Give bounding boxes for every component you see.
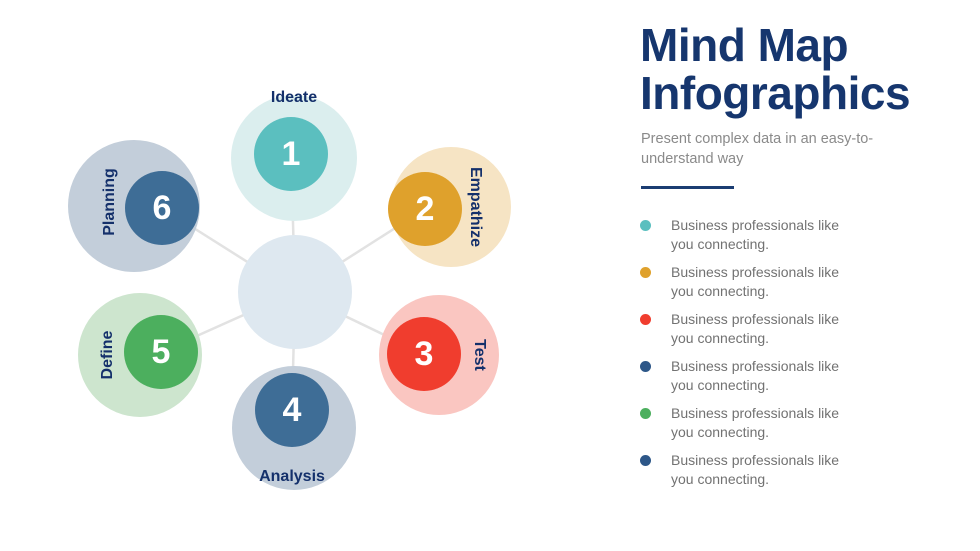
legend-item[interactable]: Business professionals like you connecti… (640, 451, 970, 498)
mind-map-diagram: 1Ideate2Empathize3Test4Analysis5Define6P… (0, 0, 600, 551)
node-label: Ideate (271, 90, 317, 106)
legend-item-label: Business professionals like you connecti… (671, 451, 846, 490)
legend-bullet-icon (640, 408, 651, 419)
legend-bullet-icon (640, 220, 651, 231)
legend-item[interactable]: Business professionals like you connecti… (640, 357, 970, 404)
legend-bullet-icon (640, 267, 651, 278)
node-inner-circle[interactable]: 2 (388, 172, 462, 246)
legend-bullet-icon (640, 455, 651, 466)
node-inner-circle[interactable]: 6 (125, 171, 199, 245)
legend-item-label: Business professionals like you connecti… (671, 216, 846, 255)
legend-item-label: Business professionals like you connecti… (671, 404, 846, 443)
node-inner-circle[interactable]: 4 (255, 373, 329, 447)
legend-bullet-icon (640, 361, 651, 372)
legend-item[interactable]: Business professionals like you connecti… (640, 216, 970, 263)
node-number: 3 (415, 337, 434, 371)
node-label: Test (471, 339, 487, 371)
node-inner-circle[interactable]: 5 (124, 315, 198, 389)
node-label: Planning (102, 168, 118, 236)
legend-item-label: Business professionals like you connecti… (671, 357, 846, 396)
node-number: 6 (153, 191, 172, 225)
node-number: 1 (282, 137, 301, 171)
legend-item-label: Business professionals like you connecti… (671, 263, 846, 302)
center-hub (238, 235, 352, 349)
node-label: Analysis (259, 469, 325, 485)
title-divider (641, 186, 734, 189)
node-number: 2 (416, 192, 435, 226)
page-subtitle: Present complex data in an easy-to-under… (641, 130, 891, 169)
node-inner-circle[interactable]: 3 (387, 317, 461, 391)
node-inner-circle[interactable]: 1 (254, 117, 328, 191)
node-number: 4 (283, 393, 302, 427)
legend-item[interactable]: Business professionals like you connecti… (640, 310, 970, 357)
node-label: Empathize (467, 167, 483, 247)
legend-item-label: Business professionals like you connecti… (671, 310, 846, 349)
node-number: 5 (152, 335, 171, 369)
page-title: Mind Map Infographics (640, 22, 970, 118)
node-label: Define (100, 331, 116, 380)
legend-bullet-icon (640, 314, 651, 325)
legend-item[interactable]: Business professionals like you connecti… (640, 404, 970, 451)
legend-list: Business professionals like you connecti… (640, 216, 970, 498)
title-line-2: Infographics (640, 67, 910, 119)
content-panel: Mind Map Infographics Present complex da… (640, 0, 980, 551)
legend-item[interactable]: Business professionals like you connecti… (640, 263, 970, 310)
title-line-1: Mind Map (640, 19, 848, 71)
slide-canvas: 1Ideate2Empathize3Test4Analysis5Define6P… (0, 0, 980, 551)
